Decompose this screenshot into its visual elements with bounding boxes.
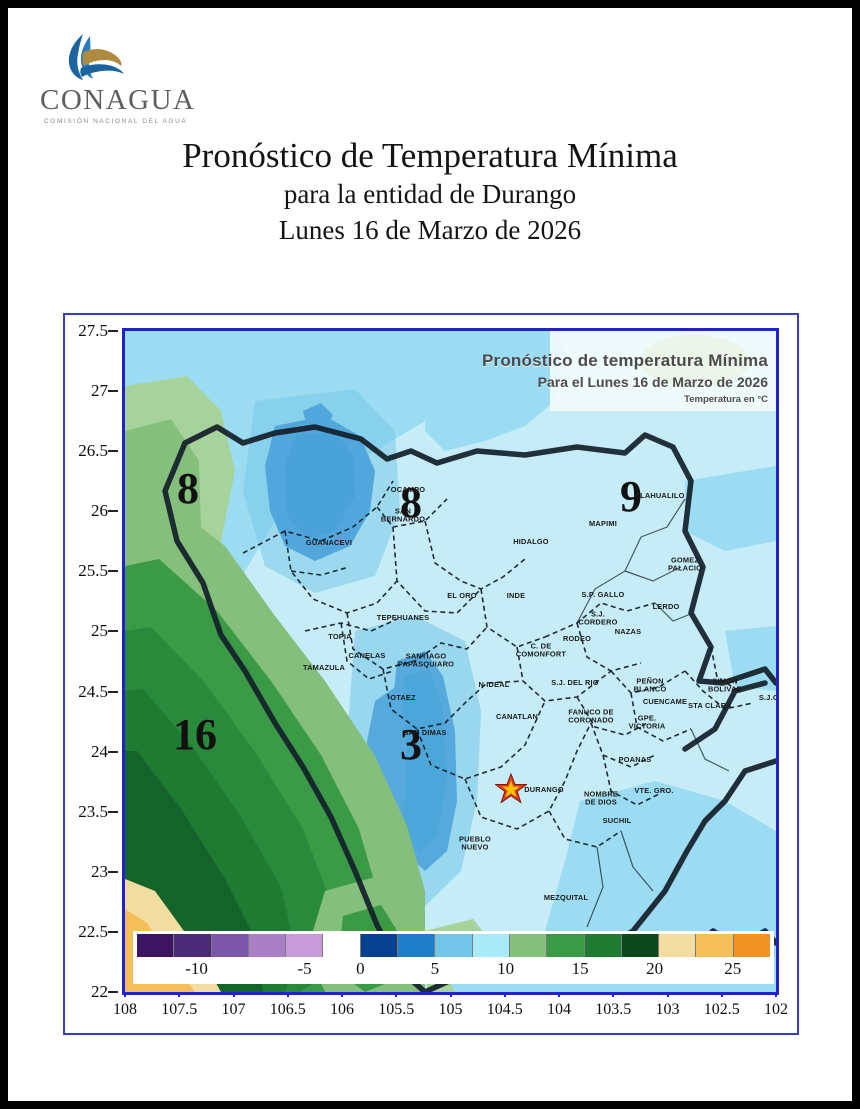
y-tick-label: 23	[56, 862, 108, 882]
municipality-label: GUANACEVI	[306, 539, 352, 547]
municipality-label: MEZQUITAL	[544, 894, 588, 902]
x-tick-label: 106.5	[258, 1001, 318, 1019]
municipality-label: TAMAZULA	[303, 664, 345, 672]
x-tick-label: 102.5	[692, 1001, 752, 1019]
y-tick-label: 25.5	[56, 561, 108, 581]
y-tick-mark	[108, 330, 118, 332]
colorbar-swatch	[473, 934, 510, 957]
municipality-label: CANATLAN	[496, 713, 538, 721]
page-subtitle-entity: para la entidad de Durango	[8, 178, 852, 210]
colorbar-swatch	[323, 934, 360, 957]
municipality-label: CANELAS	[348, 652, 385, 660]
municipality-label: MAPIMI	[589, 520, 617, 528]
colorbar-swatch	[174, 934, 211, 957]
y-tick-label: 26	[56, 501, 108, 521]
contour-label: 8	[177, 463, 199, 514]
municipality-label: LERDO	[653, 603, 680, 611]
municipality-label: SAN DIMAS	[403, 729, 446, 737]
colorbar-tick-label: 25	[709, 959, 757, 979]
x-tick-label: 105	[421, 1001, 481, 1019]
municipality-label: OCAMPO	[391, 486, 425, 494]
municipality-label: HIDALGO	[513, 538, 548, 546]
colorbar-tick-label: 10	[482, 959, 530, 979]
colorbar-swatch	[734, 934, 770, 957]
municipality-label: RODEO	[563, 635, 591, 643]
y-tick-mark	[108, 871, 118, 873]
y-tick-label: 24	[56, 742, 108, 762]
municipality-label: S.J. CORDERO	[578, 611, 617, 628]
colorbar-swatch	[547, 934, 584, 957]
logo-wordmark: CONAGUA	[40, 84, 196, 117]
colorbar-swatch	[361, 934, 398, 957]
conagua-eagle-water-icon	[28, 30, 188, 86]
y-tick-label: 27.5	[56, 321, 108, 341]
municipality-label: TEPEHUANES	[377, 614, 430, 622]
municipality-label: POANAS	[619, 756, 652, 764]
municipality-label: S.P. GALLO	[582, 591, 625, 599]
y-tick-label: 22.5	[56, 922, 108, 942]
colorbar-swatch	[510, 934, 547, 957]
x-tick-label: 108	[95, 1001, 155, 1019]
municipality-label: GOMEZ PALACIO	[668, 557, 702, 574]
colorbar-swatch	[249, 934, 286, 957]
map-caption-unit: Temperatura en °C	[482, 394, 768, 405]
poster-page: CONAGUA COMISIÓN NACIONAL DEL AGUA Pronó…	[8, 8, 852, 1101]
colorbar-swatch	[398, 934, 435, 957]
colorbar: -10-50510152025	[133, 931, 774, 984]
y-tick-label: 27	[56, 381, 108, 401]
municipality-label: OTAEZ	[390, 694, 416, 702]
colorbar-swatch	[137, 934, 174, 957]
municipality-label: TOPIA	[328, 633, 351, 641]
municipality-label: NAZAS	[615, 628, 641, 636]
x-tick-label: 107	[204, 1001, 264, 1019]
logo-subtitle: COMISIÓN NACIONAL DEL AGUA	[44, 118, 187, 125]
municipality-label: C. DE COMONFORT	[516, 643, 566, 660]
x-tick-label: 102	[746, 1001, 806, 1019]
municipality-label: GPE. VICTORIA	[629, 715, 666, 732]
y-tick-mark	[108, 570, 118, 572]
y-tick-label: 23.5	[56, 802, 108, 822]
colorbar-tick-labels: -10-50510152025	[133, 957, 774, 983]
colorbar-swatch	[696, 934, 733, 957]
municipality-label: PUEBLO NUEVO	[459, 836, 491, 853]
x-tick-label: 104.5	[475, 1001, 535, 1019]
colorbar-tick-label: 15	[556, 959, 604, 979]
x-axis: 108107.5107106.5106105.5105104.5104103.5…	[122, 997, 779, 1023]
municipality-label: VTE. GRO.	[634, 787, 673, 795]
municipality-label: EL ORO	[447, 592, 476, 600]
colorbar-swatch	[622, 934, 659, 957]
colorbar-swatch	[212, 934, 249, 957]
map-caption: Pronóstico de temperatura Mínima Para el…	[482, 351, 768, 405]
municipality-label: CUENCAME	[643, 698, 687, 706]
y-tick-mark	[108, 991, 118, 993]
municipality-label: SIMON BOLIVAR	[708, 678, 742, 695]
y-tick-mark	[108, 390, 118, 392]
map-caption-title: Pronóstico de temperatura Mínima	[482, 351, 768, 371]
municipality-label: N IDEAL	[479, 681, 510, 689]
municipality-label: NOMBRE DE DIOS	[584, 791, 618, 808]
colorbar-swatch	[286, 934, 323, 957]
colorbar-tick-label: 0	[336, 959, 384, 979]
y-tick-mark	[108, 510, 118, 512]
colorbar-tick-label: -5	[281, 959, 329, 979]
y-tick-label: 22	[56, 982, 108, 1002]
municipality-label: STA CLARA	[688, 702, 732, 710]
contour-label: 3	[400, 719, 422, 770]
map-caption-date: Para el Lunes 16 de Marzo de 2026	[482, 374, 768, 390]
colorbar-tick-label: 5	[411, 959, 459, 979]
x-tick-label: 103	[638, 1001, 698, 1019]
y-tick-mark	[108, 751, 118, 753]
colorbar-swatches	[137, 934, 770, 957]
x-tick-label: 104	[529, 1001, 589, 1019]
forecast-figure: 27.52726.52625.52524.52423.52322.522 108…	[63, 313, 799, 1035]
y-tick-mark	[108, 811, 118, 813]
conagua-logo: CONAGUA COMISIÓN NACIONAL DEL AGUA	[28, 30, 188, 120]
colorbar-swatch	[585, 934, 622, 957]
x-tick-label: 105.5	[366, 1001, 426, 1019]
y-tick-mark	[108, 450, 118, 452]
municipality-label: DURANGO	[524, 786, 564, 794]
colorbar-tick-label: -10	[173, 959, 221, 979]
y-tick-label: 26.5	[56, 441, 108, 461]
page-title: Pronóstico de Temperatura Mínima	[8, 136, 852, 175]
colorbar-swatch	[435, 934, 472, 957]
y-tick-mark	[108, 691, 118, 693]
municipality-label: SANTIAGO PAPASQUIARO	[398, 653, 454, 670]
municipality-label: TLAHUALILO	[635, 492, 684, 500]
municipality-label: S.J.GPE	[759, 694, 779, 702]
x-tick-label: 107.5	[149, 1001, 209, 1019]
y-tick-mark	[108, 630, 118, 632]
y-axis: 27.52726.52625.52524.52423.52322.522	[65, 328, 122, 995]
map-plot-area: Pronóstico de temperatura Mínima Para el…	[122, 328, 779, 995]
x-tick-label: 103.5	[583, 1001, 643, 1019]
page-subtitle-date: Lunes 16 de Marzo de 2026	[8, 214, 852, 246]
y-tick-mark	[108, 931, 118, 933]
municipality-label: FANUCO DE CORONADO	[568, 709, 614, 726]
municipality-label: S.J. DEL RIO	[551, 679, 598, 687]
x-tick-label: 106	[312, 1001, 372, 1019]
municipality-label: SUCHIL	[603, 817, 632, 825]
colorbar-swatch	[659, 934, 696, 957]
y-tick-label: 24.5	[56, 682, 108, 702]
municipality-label: INDE	[507, 592, 525, 600]
poster-titles: Pronóstico de Temperatura Mínima para la…	[8, 136, 852, 246]
colorbar-tick-label: 20	[631, 959, 679, 979]
municipality-label: PEÑON BLANCO	[634, 678, 667, 695]
municipality-label: SAN BERNARDO	[381, 508, 425, 525]
contour-label: 16	[173, 709, 217, 760]
y-tick-label: 25	[56, 621, 108, 641]
